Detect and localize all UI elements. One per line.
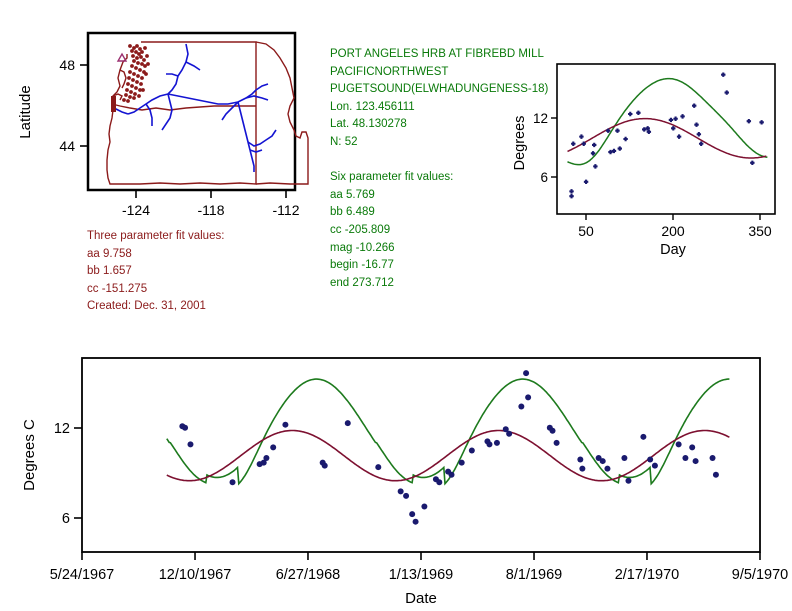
- six-param-end: end 273.712: [330, 275, 550, 293]
- three-param-cc: cc -151.275: [87, 281, 327, 299]
- main-xtick-1: 12/10/1967: [159, 567, 232, 583]
- inset-ytick-12: 12: [533, 111, 548, 126]
- map-panel: 48 44 Latitude -124 -118 -112: [0, 0, 330, 230]
- main-xtick-3: 1/13/1969: [389, 567, 454, 583]
- inset-xtick-50: 50: [578, 223, 594, 239]
- inset-ytick-6: 6: [540, 170, 548, 185]
- map-y-axis: 48 44 Latitude: [17, 57, 88, 154]
- main-xtick-6: 9/5/1970: [732, 567, 788, 583]
- three-param-heading: Three parameter fit values:: [87, 228, 327, 246]
- main-xtick-4: 8/1/1969: [506, 567, 562, 583]
- map-plot-frame: [88, 33, 295, 190]
- inset-xtick-200: 200: [661, 223, 685, 239]
- inset-y-axis: 12 6 Degrees: [512, 111, 557, 185]
- main-plot-frame: [82, 358, 760, 552]
- created-date: Created: Dec. 31, 2001: [87, 298, 327, 316]
- main-x-axis: 5/24/196712/10/19676/27/19681/13/19698/1…: [50, 552, 788, 583]
- map-xtick-112: -112: [273, 202, 300, 218]
- map-ytick-44: 44: [59, 138, 75, 154]
- inset-xlabel: Day: [660, 242, 687, 258]
- map-ylabel: Latitude: [17, 85, 34, 138]
- main-xlabel: Date: [405, 590, 437, 607]
- main-ytick-12: 12: [54, 421, 70, 437]
- main-xtick-5: 2/17/1970: [615, 567, 680, 583]
- three-param-bb: bb 1.657: [87, 263, 327, 281]
- map-xtick-124: -124: [122, 202, 150, 218]
- inset-ylabel: Degrees: [512, 116, 528, 171]
- main-xtick-2: 6/27/1968: [276, 567, 341, 583]
- map-x-axis: -124 -118 -112: [122, 190, 300, 218]
- map-xtick-118: -118: [198, 202, 225, 218]
- three-param-block: Three parameter fit values: aa 9.758 bb …: [87, 228, 327, 316]
- main-y-axis: 12 6 Degrees C: [21, 419, 82, 527]
- three-param-aa: aa 9.758: [87, 246, 327, 264]
- map-ytick-48: 48: [59, 57, 75, 73]
- time-series-chart: 12 6 Degrees C 5/24/196712/10/19676/27/1…: [0, 330, 792, 611]
- inset-x-axis: 50 200 350 Day: [578, 214, 772, 258]
- main-ytick-6: 6: [62, 511, 70, 527]
- main-xtick-0: 5/24/1967: [50, 567, 115, 583]
- day-of-year-chart: 12 6 Degrees 50 200 350 Day: [505, 55, 792, 260]
- inset-xtick-350: 350: [748, 223, 772, 239]
- main-ylabel: Degrees C: [21, 419, 38, 491]
